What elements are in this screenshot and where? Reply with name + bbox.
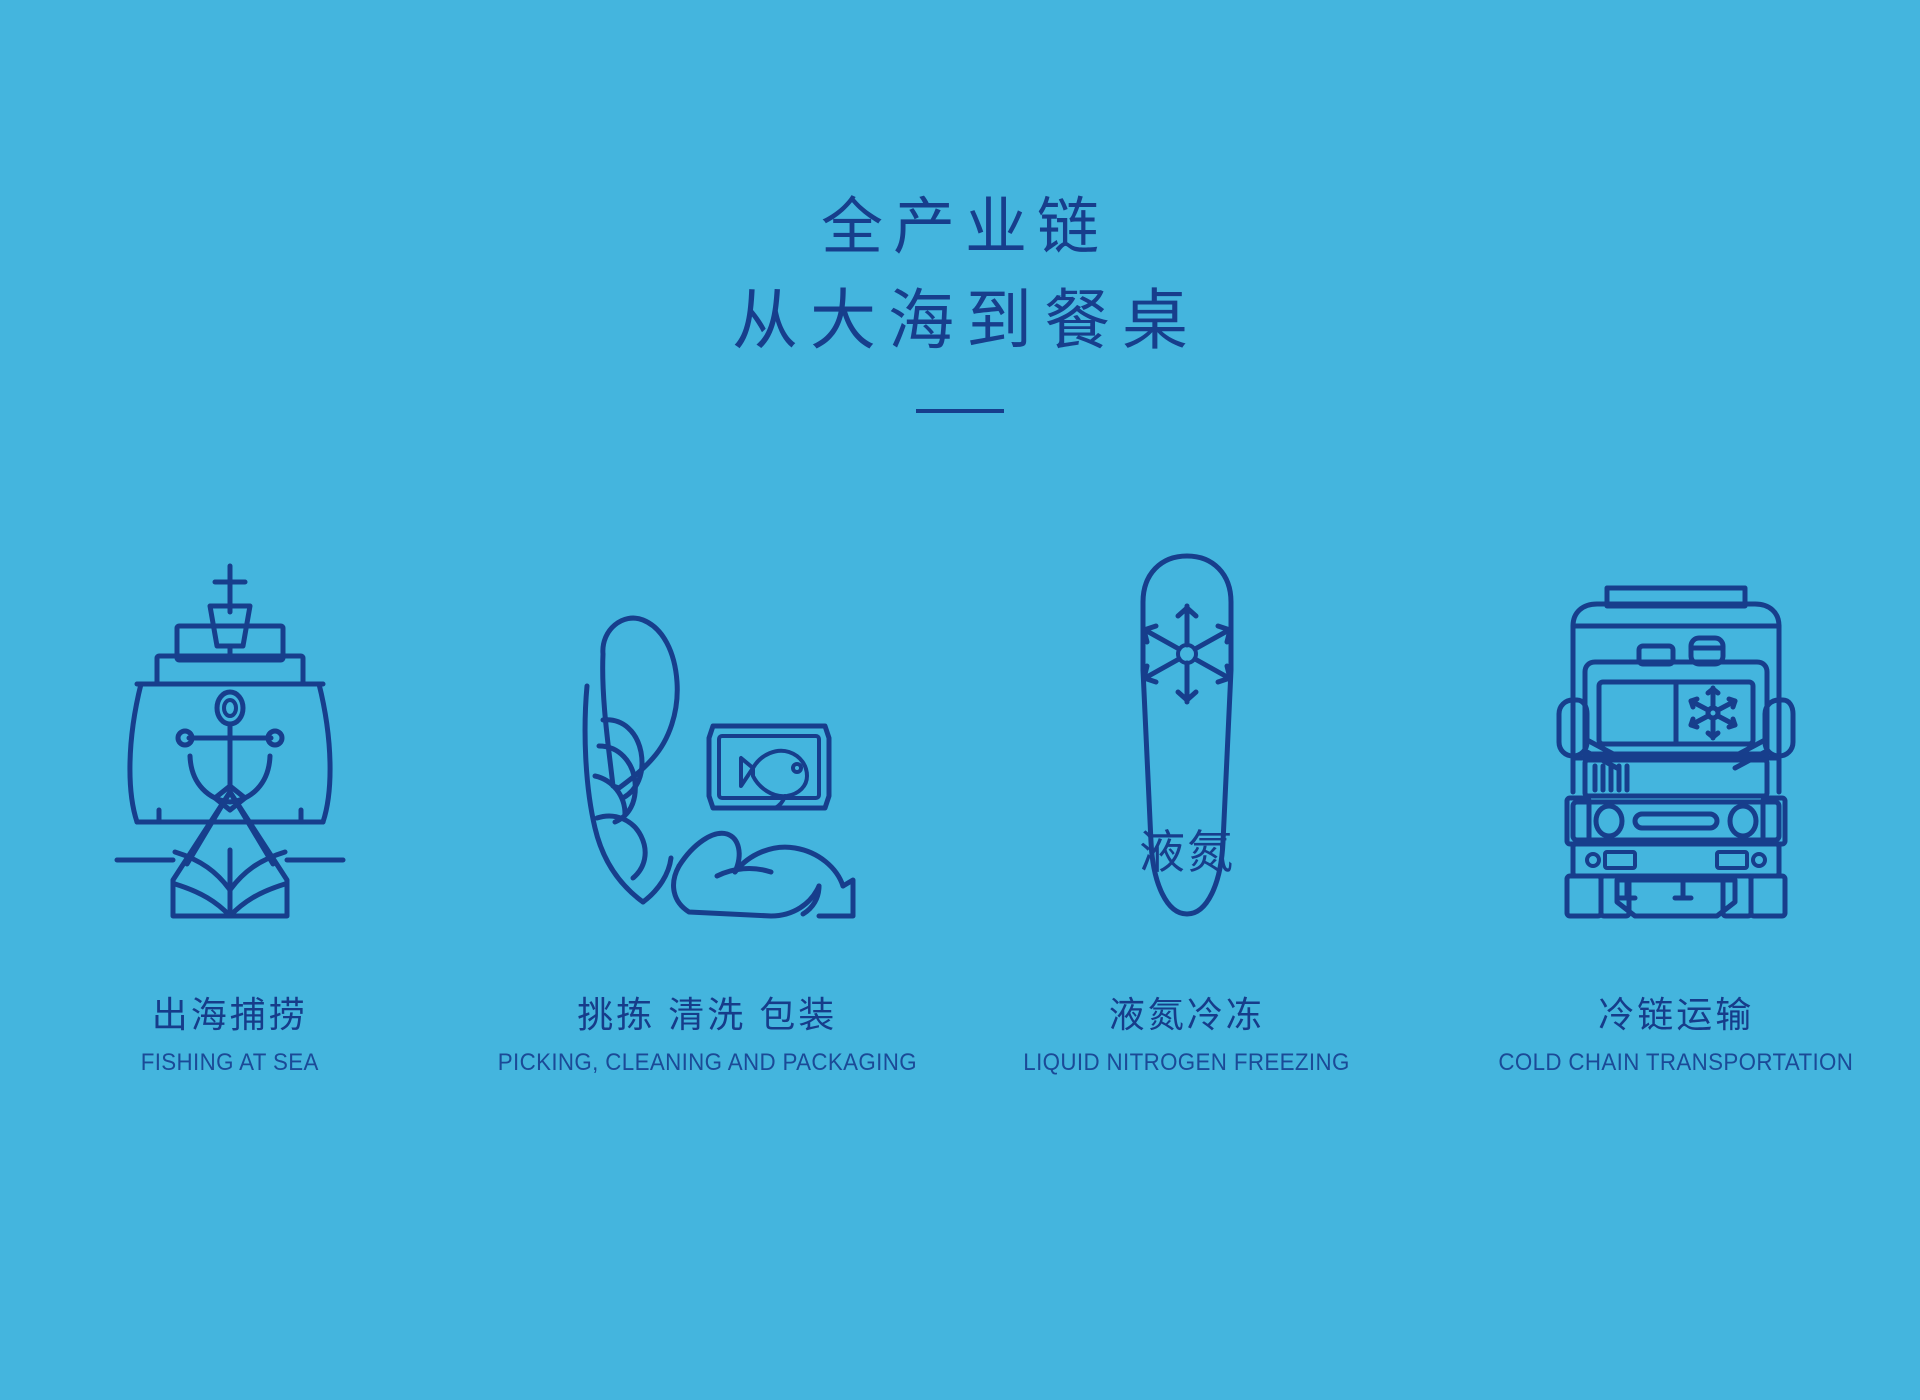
page-header: 全产业链 从大海到餐桌 — [0, 182, 1920, 413]
step-fishing-at-sea: 出海捕捞 FISHING AT SEA — [0, 520, 466, 1077]
step-title-cn: 液氮冷冻 — [1011, 994, 1362, 1035]
refrigerated-truck-icon — [1551, 520, 1801, 920]
step-title-cn: 出海捕捞 — [134, 994, 325, 1035]
step-title-en: FISHING AT SEA — [141, 1049, 319, 1077]
infographic-page: 全产业链 从大海到餐桌 — [0, 0, 1920, 1400]
fishing-boat-anchor-icon — [115, 520, 345, 920]
icon-text-liquid-nitrogen: 液氮 — [1139, 825, 1235, 879]
title-divider — [916, 409, 1004, 413]
step-title-cn: 挑拣 清洗 包装 — [482, 994, 933, 1035]
step-labels: 挑拣 清洗 包装 PICKING, CLEANING AND PACKAGING — [482, 994, 933, 1077]
step-liquid-nitrogen-freezing: 液氮 液氮冷冻 LIQUID NITROGEN FREEZING — [951, 520, 1423, 1077]
liquid-nitrogen-tank-icon: 液氮 — [1107, 520, 1267, 920]
step-title-en: PICKING, CLEANING AND PACKAGING — [498, 1049, 917, 1077]
step-picking-cleaning-packaging: 挑拣 清洗 包装 PICKING, CLEANING AND PACKAGING — [472, 520, 944, 1077]
step-title-cn: 冷链运输 — [1485, 994, 1867, 1035]
hands-packaged-fish-icon — [557, 520, 857, 920]
step-labels: 液氮冷冻 LIQUID NITROGEN FREEZING — [1011, 994, 1362, 1077]
page-title-line-2: 从大海到餐桌 — [0, 273, 1920, 369]
snowflake-icon — [1144, 606, 1230, 702]
step-title-en: LIQUID NITROGEN FREEZING — [1024, 1049, 1350, 1077]
step-labels: 冷链运输 COLD CHAIN TRANSPORTATION — [1485, 994, 1867, 1077]
process-steps: 出海捕捞 FISHING AT SEA — [0, 520, 1920, 1077]
step-title-en: COLD CHAIN TRANSPORTATION — [1499, 1049, 1854, 1077]
step-labels: 出海捕捞 FISHING AT SEA — [134, 994, 325, 1077]
page-title-line-1: 全产业链 — [0, 182, 1920, 273]
snowflake-icon — [1691, 688, 1735, 738]
step-cold-chain-transportation: 冷链运输 COLD CHAIN TRANSPORTATION — [1441, 520, 1913, 1077]
